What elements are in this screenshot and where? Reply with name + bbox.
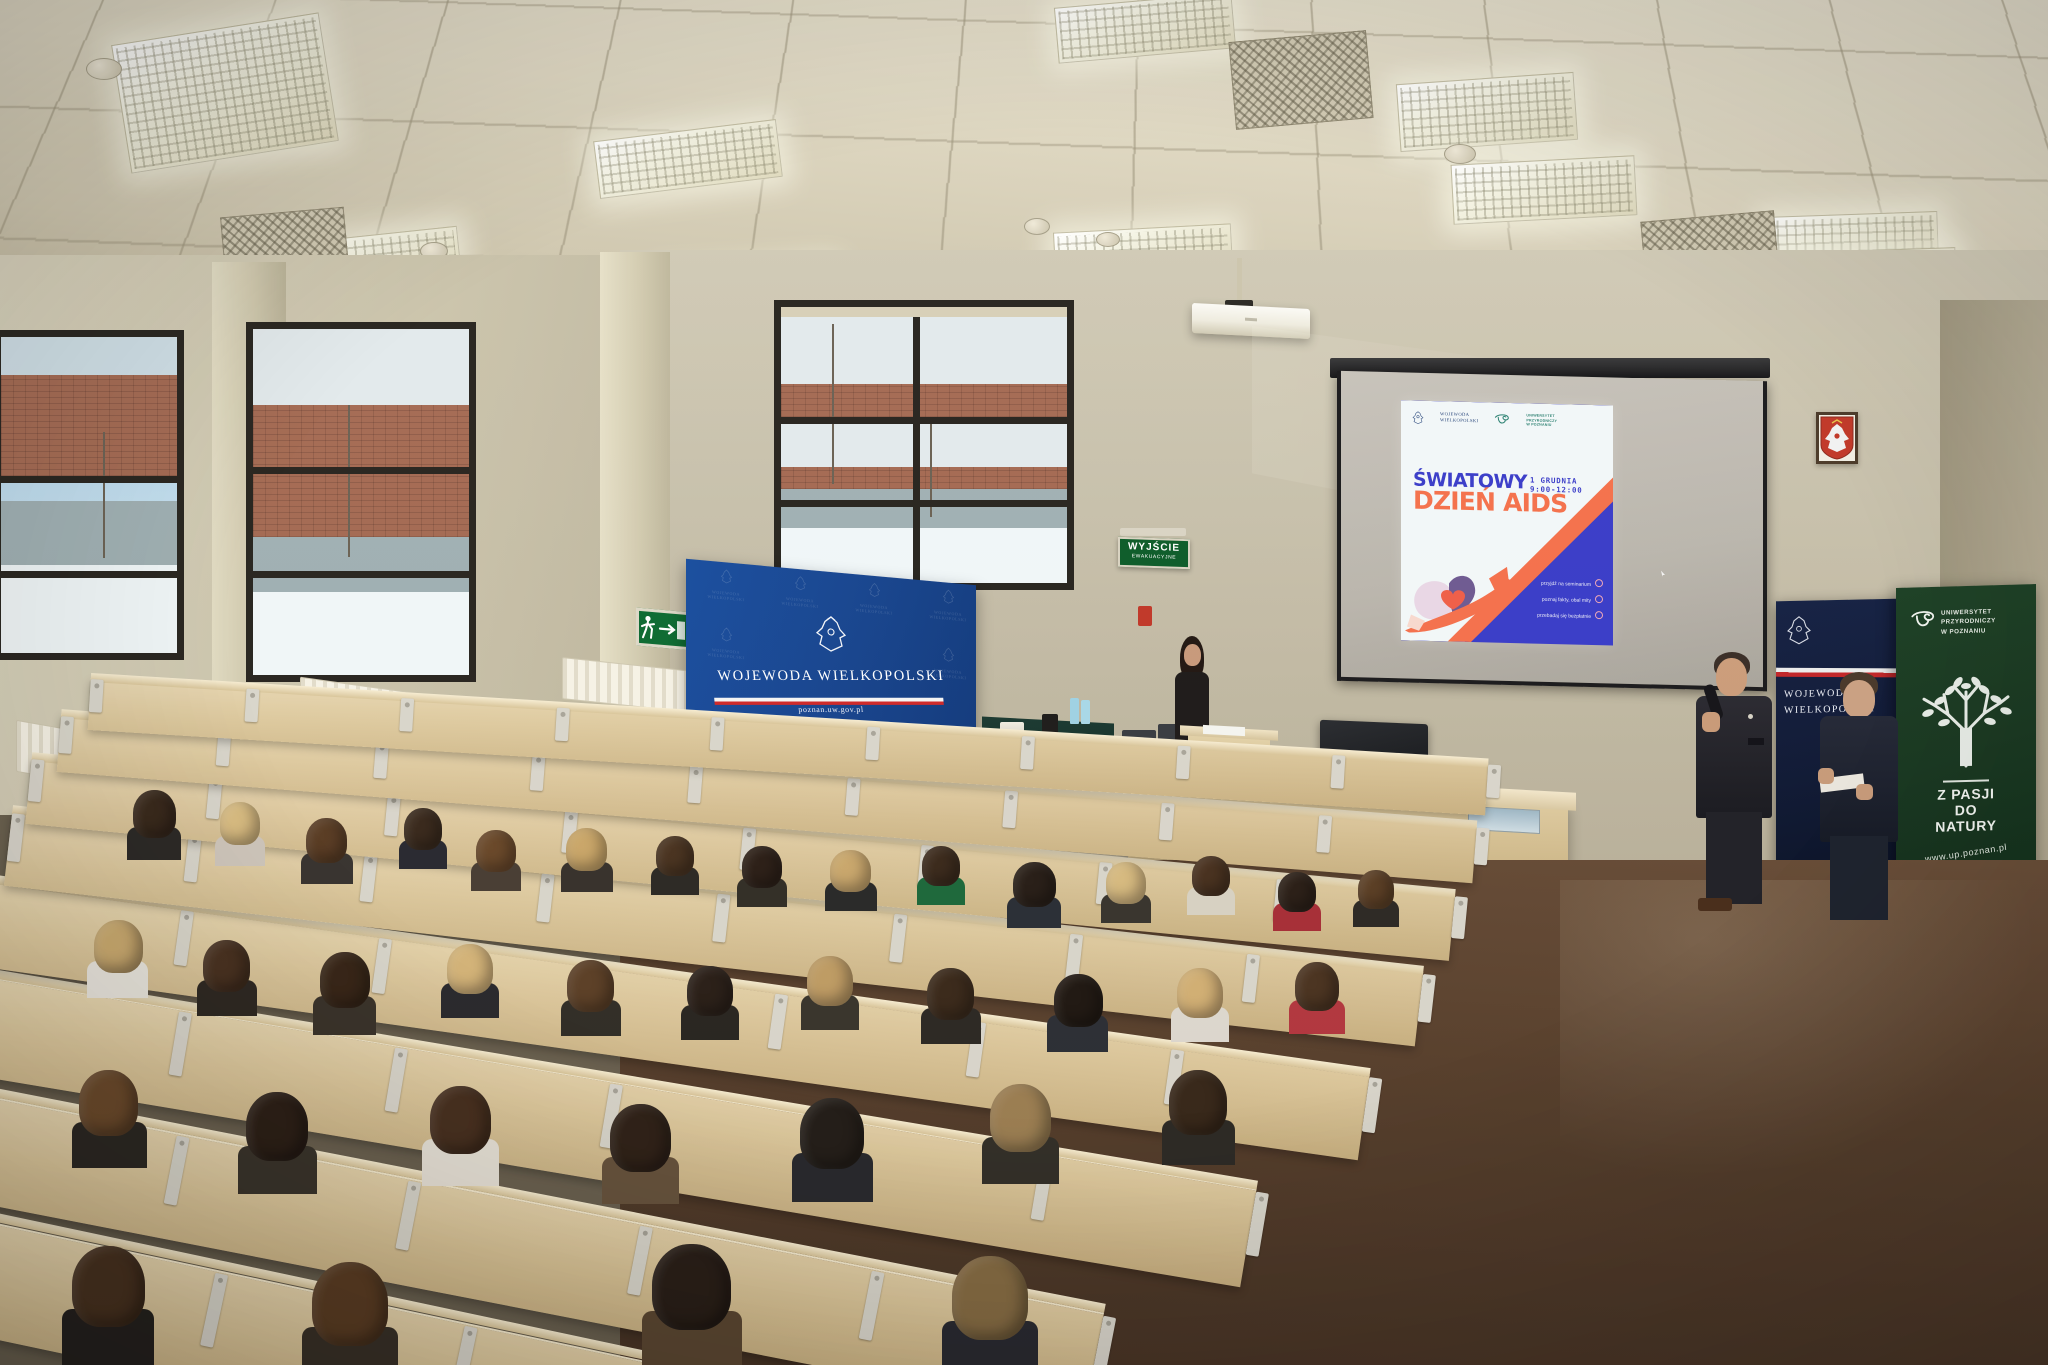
- slide-bullet-item: przebadaj się bezpłatnie: [1537, 610, 1603, 621]
- check-circle-icon: [1595, 611, 1603, 619]
- audience-member-head: [687, 966, 733, 1016]
- university-logo-icon: [1910, 609, 1936, 630]
- audience-member-head: [476, 830, 516, 872]
- audience-member-head: [567, 960, 614, 1012]
- audience-member: [1046, 974, 1110, 1048]
- audience-member: [560, 960, 622, 1032]
- audience-member: [1352, 870, 1400, 924]
- seat-bracket: [399, 698, 414, 732]
- trousers: [1706, 812, 1762, 904]
- slide-bullet-item: przyjdź na seminarium: [1537, 578, 1603, 589]
- coat-of-arms-icon: [1819, 415, 1855, 461]
- audience-member: [1160, 1070, 1236, 1160]
- coat-of-arms-frame: [1816, 412, 1858, 464]
- audience-member-head: [1106, 862, 1146, 904]
- audience-member: [560, 828, 614, 888]
- projector: [1192, 303, 1310, 339]
- audience-member-head: [652, 1244, 731, 1330]
- ceiling-air-vent: [1228, 30, 1373, 130]
- audience-member-head: [1358, 870, 1394, 909]
- audience-member-head: [927, 968, 974, 1020]
- slide-bullet-list: przyjdź na seminariumpoznaj fakty, obal …: [1537, 578, 1603, 628]
- smoke-detector-icon: [86, 58, 122, 80]
- audience-member: [86, 920, 150, 994]
- rollup-slogan: Z PASJI DO NATURY: [1931, 785, 2001, 835]
- university-logo-icon: [1494, 413, 1510, 426]
- audience-member: [1006, 862, 1062, 924]
- tree-illustration-icon: [1914, 669, 2018, 770]
- audience-member-head: [312, 1262, 388, 1346]
- audience-member: [126, 790, 182, 856]
- seat-bracket: [89, 679, 104, 713]
- audience-member: [1272, 872, 1322, 928]
- audience-member: [236, 1092, 318, 1188]
- seat-bracket: [555, 708, 570, 742]
- audience-member-head: [922, 846, 960, 886]
- audience-member-head: [990, 1084, 1051, 1152]
- audience-member: [440, 944, 500, 1014]
- audience-member: [640, 1244, 744, 1364]
- fire-alarm-button[interactable]: [1138, 606, 1152, 626]
- window-left: [0, 330, 184, 660]
- audience-member-head: [430, 1086, 491, 1154]
- window-center-left: [246, 322, 476, 682]
- audience-member: [1100, 862, 1152, 920]
- audience-member-head: [306, 818, 347, 863]
- audience-member-head: [203, 940, 250, 992]
- audience-member-head: [610, 1104, 671, 1172]
- seat-bracket: [1176, 746, 1191, 780]
- hand: [1818, 768, 1834, 784]
- seat-bracket: [1474, 827, 1490, 865]
- audience-member-head: [566, 828, 607, 871]
- window-center-right: [774, 300, 1074, 590]
- audience-member-head: [320, 952, 370, 1008]
- audience-member-head: [830, 850, 871, 892]
- audience-member-head: [1278, 872, 1316, 912]
- audience-member-head: [807, 956, 853, 1006]
- seat-bracket: [1451, 896, 1468, 939]
- emergency-exit-sign: WYJŚCIE EWAKUACYJNE: [1118, 537, 1190, 570]
- seat-bracket: [244, 689, 259, 723]
- university-logo-label: UNIWERSYTET PRZYRODNICZY W POZNANIU: [1941, 607, 1996, 636]
- audience-member: [824, 850, 878, 908]
- audience-member: [650, 836, 700, 892]
- seat-bracket: [1020, 736, 1035, 770]
- audience-member: [736, 846, 788, 904]
- heart-hands-illustration: [1405, 536, 1515, 635]
- mouse-cursor-icon: [1661, 571, 1665, 577]
- backdrop-watermark: WOJEWODA WIELKOPOLSKI: [694, 566, 758, 604]
- slide-title-line2: DZIEŃ AIDS: [1413, 489, 1582, 516]
- hand: [1702, 712, 1720, 732]
- audience-member: [980, 1084, 1060, 1178]
- polish-eagle-icon: [814, 612, 848, 657]
- audience-member-head: [742, 846, 782, 888]
- backdrop-watermark: WOJEWODA WIELKOPOLSKI: [842, 579, 906, 617]
- seat-bracket: [865, 727, 880, 761]
- audience-member: [70, 1070, 148, 1162]
- audience-member: [940, 1256, 1040, 1365]
- trousers: [1830, 836, 1888, 920]
- audience-member: [1170, 968, 1230, 1038]
- audience-member-head: [1192, 856, 1230, 896]
- audience-member-head: [1177, 968, 1223, 1018]
- university-logo-block: UNIWERSYTET PRZYRODNICZY W POZNANIU: [1910, 607, 1996, 637]
- polish-eagle-icon: [1412, 411, 1424, 426]
- check-circle-icon: [1595, 595, 1603, 603]
- presentation-slide: WOJEWODA WIELKOPOLSKI UNIWERSYTET PRZYRO…: [1401, 400, 1613, 645]
- shoe: [1698, 898, 1732, 911]
- audience-member-head: [1169, 1070, 1227, 1135]
- audience-member-head: [246, 1092, 308, 1161]
- polish-eagle-icon: [1786, 615, 1812, 648]
- audience-member-head: [94, 920, 143, 973]
- audience-member-head: [72, 1246, 145, 1327]
- audience-member: [920, 968, 982, 1040]
- audience-member: [60, 1246, 156, 1358]
- projection-screen: WOJEWODA WIELKOPOLSKI UNIWERSYTET PRZYRO…: [1337, 371, 1767, 692]
- exit-route-sign: [636, 608, 692, 651]
- check-circle-icon: [1595, 579, 1603, 587]
- audience-member: [214, 802, 266, 862]
- audience-member-head: [1295, 962, 1339, 1011]
- smoke-detector-icon: [1096, 232, 1120, 247]
- audience-member-head: [656, 836, 694, 876]
- audience-member-head: [800, 1098, 864, 1169]
- audience-member: [398, 808, 448, 866]
- pocket-square: [1748, 738, 1764, 745]
- audience-member: [1288, 962, 1346, 1030]
- audience-member: [420, 1086, 500, 1180]
- audience-member: [300, 1262, 400, 1365]
- audience-member-head: [1013, 862, 1056, 907]
- backdrop-watermark: WOJEWODA WIELKOPOLSKI: [768, 572, 832, 610]
- audience-seating-area: [0, 660, 1700, 1365]
- backdrop-watermark: WOJEWODA WIELKOPOLSKI: [916, 586, 976, 624]
- smoke-detector-icon: [1444, 144, 1476, 164]
- audience-member: [790, 1098, 874, 1196]
- audience-member-head: [404, 808, 442, 850]
- audience-member: [470, 830, 522, 888]
- ceiling-light-panel: [1396, 72, 1578, 152]
- audience-member-head: [133, 790, 176, 838]
- audience-member: [312, 952, 378, 1030]
- slide-org-left-label: WOJEWODA WIELKOPOLSKI: [1440, 411, 1478, 424]
- slide-bullet-item: poznaj fakty, obal mity: [1537, 594, 1603, 605]
- audience-member-head: [79, 1070, 138, 1136]
- smoke-detector-icon: [1024, 218, 1050, 235]
- backdrop-watermark: WOJEWODA WIELKOPOLSKI: [694, 624, 758, 662]
- audience-member-head: [447, 944, 493, 994]
- slide-org-right-label: UNIWERSYTET PRZYRODNICZY W POZNANIU: [1526, 413, 1557, 428]
- lapel-pin: [1748, 714, 1753, 719]
- head: [1716, 658, 1747, 696]
- audience-member: [196, 940, 258, 1012]
- audience-member: [680, 966, 740, 1036]
- audience-member-head: [220, 802, 260, 845]
- seat-bracket: [1330, 755, 1345, 789]
- audience-member: [600, 1104, 680, 1198]
- speaker-reading-notes: [1812, 672, 1906, 922]
- seat-bracket: [710, 717, 725, 751]
- window-blind[interactable]: [781, 307, 1067, 317]
- audience-member-head: [1054, 974, 1103, 1027]
- running-man-icon: [639, 611, 689, 647]
- slide-title-block: ŚWIATOWY1 GRUDNIA9:00-12:00 DZIEŃ AIDS: [1413, 471, 1582, 516]
- exit-sign-lamp: [1120, 528, 1186, 536]
- audience-member: [1186, 856, 1236, 912]
- audience-member: [800, 956, 860, 1026]
- hand: [1856, 784, 1873, 800]
- ceiling-light-panel: [1451, 155, 1638, 225]
- rollup-divider: [1943, 779, 1989, 782]
- speaker-with-microphone: [1688, 652, 1780, 914]
- audience-member: [916, 846, 966, 902]
- head: [1843, 680, 1875, 718]
- audience-member: [300, 818, 354, 880]
- audience-member-head: [952, 1256, 1028, 1340]
- lecture-hall-photo: WOJEWODA WIELKOPOLSKI UNIWERSYTET PRZYRO…: [0, 0, 2048, 1365]
- seat-bracket: [1486, 764, 1501, 798]
